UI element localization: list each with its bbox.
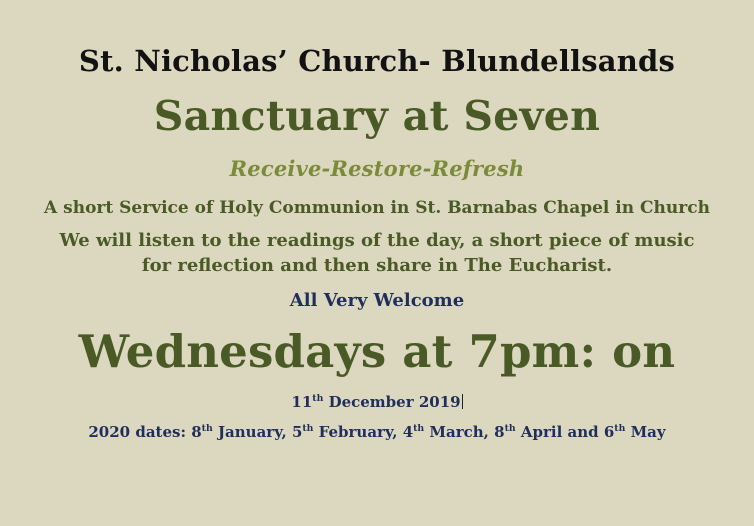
poster-canvas: St. Nicholas’ Church- Blundellsands Sanc… (0, 0, 754, 526)
future-date-day: 4 (403, 423, 413, 441)
future-date-ordinal: th (302, 423, 313, 434)
future-date-day: 6 (604, 423, 614, 441)
schedule-heading: Wednesdays at 7pm: on (0, 325, 754, 378)
future-date-ordinal: th (202, 423, 213, 434)
future-date-day: 8 (494, 423, 504, 441)
future-dates-prefix: 2020 dates: (88, 423, 191, 441)
primary-date-ordinal: th (312, 393, 323, 404)
church-name-heading: St. Nicholas’ Church- Blundellsands (0, 44, 754, 78)
future-date-day: 8 (191, 423, 201, 441)
future-dates-entries: 8th January, 5th February, 4th March, 8t… (191, 423, 665, 441)
primary-date-line: 11th December 2019 (0, 394, 754, 412)
future-date-month: March, (424, 423, 494, 441)
future-date-month: May (625, 423, 665, 441)
welcome-text: All Very Welcome (0, 290, 754, 311)
future-date-ordinal: th (505, 423, 516, 434)
text-cursor-caret (462, 394, 463, 409)
service-description-line: A short Service of Holy Communion in St.… (0, 198, 754, 218)
future-date-month: January, (213, 423, 292, 441)
tagline-text: Receive-Restore-Refresh (0, 157, 754, 182)
future-date-month: April and (516, 423, 604, 441)
future-date-month: February, (313, 423, 402, 441)
service-title-heading: Sanctuary at Seven (0, 92, 754, 140)
future-date-ordinal: th (413, 423, 424, 434)
future-date-ordinal: th (614, 423, 625, 434)
future-dates-line: 2020 dates: 8th January, 5th February, 4… (0, 424, 754, 442)
future-date-day: 5 (292, 423, 302, 441)
service-description-paragraph: We will listen to the readings of the da… (57, 229, 697, 278)
primary-date-day: 11 (291, 393, 312, 411)
primary-date-rest: December 2019 (323, 393, 460, 411)
